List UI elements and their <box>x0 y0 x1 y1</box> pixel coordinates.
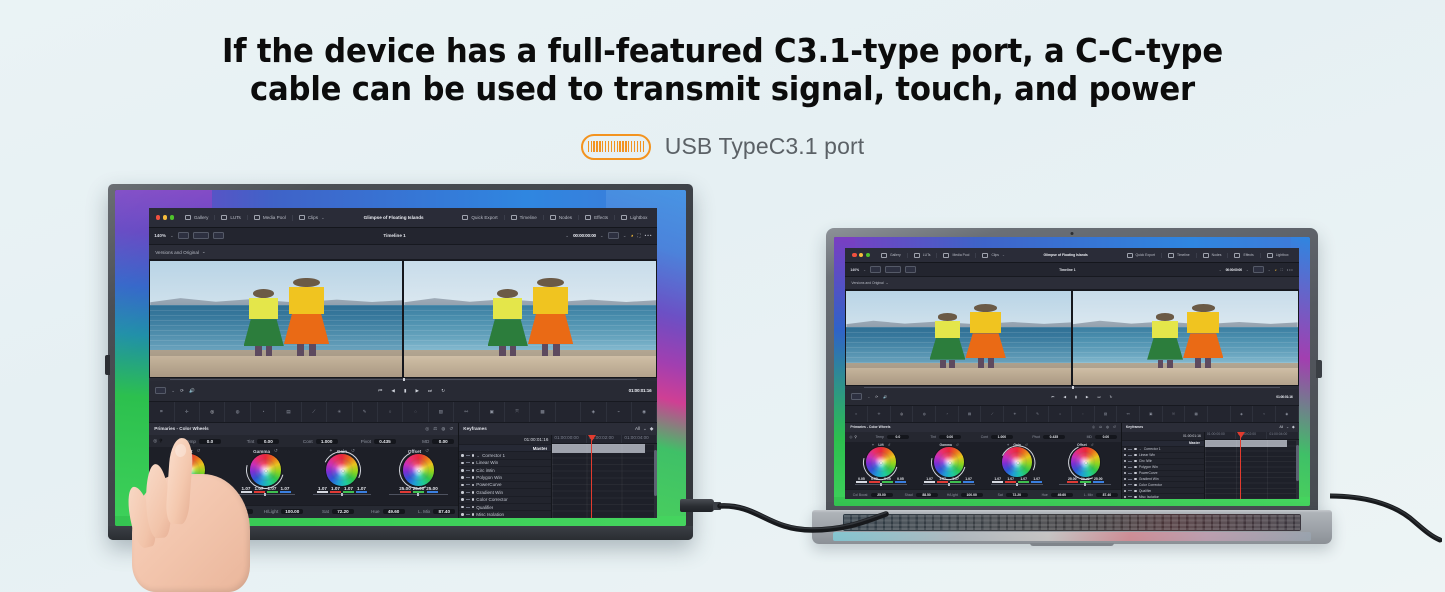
zoom-level[interactable]: 140% <box>850 268 859 272</box>
track-name: Gradient Win <box>476 490 503 495</box>
color-wheel-offset: Offset↺ 25.00 25.00 25.00 <box>1052 443 1119 489</box>
menu-item-lightbox[interactable]: Lightbox <box>614 215 653 220</box>
param-value: 0.00 <box>1095 435 1117 439</box>
tool-key-icon[interactable]: ▣ <box>480 402 505 422</box>
gain-b: 1.07 <box>357 486 366 491</box>
param-label: MD <box>422 439 429 444</box>
track-name: Linear Win <box>1139 453 1155 457</box>
menu-label: Gallery <box>194 215 209 220</box>
tool-scopes-icon[interactable]: ◈ <box>581 402 606 422</box>
subject-girl-left <box>488 289 528 356</box>
menu-item-media-pool[interactable]: Media Pool <box>936 253 975 258</box>
menu-item-media-pool[interactable]: Media Pool <box>247 215 292 220</box>
viewer-scrubber[interactable] <box>149 378 657 381</box>
track-name: Circ iWin <box>476 468 494 473</box>
color-palette-icon[interactable]: ◕ <box>631 233 634 238</box>
jump-end-button[interactable]: ⏭ <box>428 388 432 393</box>
keyframe-row-misc-isolation[interactable]: Misc Isolation <box>459 510 551 517</box>
param-label: L. Mix <box>1084 493 1093 497</box>
tool-magic-mask-icon[interactable]: ▨ <box>429 402 454 422</box>
param-hue[interactable]: Hue49.60 <box>1029 493 1073 497</box>
menu-label: Clips <box>308 215 318 220</box>
chevron-down-icon[interactable]: ⌄ <box>867 395 870 399</box>
menu-item-lightbox[interactable]: Lightbox <box>1260 253 1295 258</box>
menubar-left-group: Gallery LUTs Media Pool Clips⌄ <box>179 215 331 221</box>
keyframes-timeline[interactable]: 01:00:00:00 01:00:02:00 01:00:04:00 <box>552 435 657 518</box>
param-value: 72.20 <box>1006 493 1028 497</box>
window-traffic-lights[interactable] <box>153 215 179 219</box>
gamma-b: 1.07 <box>281 486 290 491</box>
color-wheel-gain: ✦Gain↺ 1.07 1.07 1.07 1.07 <box>984 443 1051 489</box>
menu-item-effects[interactable]: Effects <box>578 215 614 220</box>
gamma-master-slider[interactable] <box>923 483 975 486</box>
menu-label: Nodes <box>1212 253 1222 257</box>
color-wheel-gain: ✦Gain↺ 1.07 1.07 1.07 1.07 <box>304 448 380 505</box>
tool-qualifier-icon[interactable]: ✎ <box>353 402 378 422</box>
menu-item-effects[interactable]: Effects <box>1227 253 1259 258</box>
tool-scopes-icon[interactable]: ◈ <box>1231 406 1254 422</box>
laptop-keyboard[interactable] <box>843 514 1301 531</box>
param-shadow[interactable]: Shad88.50 <box>894 493 938 497</box>
jump-start-button[interactable]: ⏮ <box>378 388 382 393</box>
loop-playback-button[interactable]: ↻ <box>441 388 445 394</box>
tool-power-window-icon[interactable]: ○ <box>1049 406 1072 422</box>
keyframes-timecode: 01:00:01:16 <box>459 435 551 444</box>
gain-b: 1.07 <box>1033 477 1040 481</box>
keyframe-row-corrector-1[interactable]: ⌄Corrector 1 <box>459 451 551 458</box>
track-name: Corrector 1 <box>482 453 505 458</box>
history-icon[interactable]: ↺ <box>1113 425 1116 429</box>
tool-color-wheels-icon[interactable]: ◎ <box>200 402 225 422</box>
eyedropper-icon[interactable]: ⚲ <box>854 435 856 439</box>
playhead-timecode: 01:00:01:16 <box>629 388 652 393</box>
nodes-icon <box>550 215 556 220</box>
chevron-down-icon[interactable]: ⌄ <box>202 249 206 255</box>
gamma-wheel[interactable] <box>934 447 964 477</box>
tool-stabilizer-icon[interactable]: ▩ <box>1185 406 1208 422</box>
view-split-button[interactable] <box>193 232 209 239</box>
menu-label: Clips <box>991 253 999 257</box>
auto-balance-icon[interactable]: ⚖ <box>1099 425 1102 429</box>
viewer-timecode: 00:00:00:00 <box>1226 268 1242 272</box>
gallery-icon <box>881 253 887 258</box>
tool-motion-effects-icon[interactable]: ✳ <box>1004 406 1027 422</box>
subject-girl-right <box>965 304 1005 368</box>
playhead[interactable] <box>1240 432 1241 499</box>
gain-wheel[interactable] <box>1002 447 1032 477</box>
auto-balance-icon[interactable]: ⚖ <box>433 426 437 432</box>
param-label: Cont <box>303 439 313 444</box>
menu-item-luts[interactable]: LUTs <box>907 253 937 258</box>
param-value: 0.435 <box>374 439 396 444</box>
image-wipe-button[interactable] <box>1253 266 1264 273</box>
tool-color-match-icon[interactable]: ✛ <box>175 402 200 422</box>
image-wipe-button[interactable] <box>608 232 619 239</box>
param-highlight[interactable]: H/Light100.00 <box>939 493 983 497</box>
color-wheel-offset: Offset↺ 25.00 25.00 25.00 <box>381 448 457 505</box>
laptop-usb-c-port <box>1316 360 1322 378</box>
viewer-original[interactable] <box>150 261 402 376</box>
viewer-scrubber[interactable] <box>845 386 1298 389</box>
param-tint[interactable]: Tint0.00 <box>911 435 961 439</box>
loop-icon[interactable]: ⟳ <box>875 395 878 399</box>
tool-power-window-icon[interactable]: ○ <box>378 402 403 422</box>
more-options-icon[interactable]: ••• <box>1287 268 1294 272</box>
panel-header: Primaries - Color Wheels ◎ ⚖ ◍ ↺ <box>845 423 1120 433</box>
viewer-graded[interactable] <box>404 261 656 376</box>
tool-info-icon[interactable]: ⌁ <box>607 402 632 422</box>
tool-qualifier-icon[interactable]: ✎ <box>1027 406 1050 422</box>
viewer-original[interactable] <box>846 291 1071 385</box>
subject-girl-left <box>244 289 284 356</box>
param-hue[interactable]: Hue49.60 <box>355 509 405 514</box>
param-label: H/Light <box>264 509 279 514</box>
tool-rgb-mixer-icon[interactable]: ▤ <box>276 402 301 422</box>
tool-data-burn-icon[interactable] <box>556 402 581 422</box>
playback-controls: ⏮ ◀ ▮ ▶ ⏭ ↻ <box>887 395 1276 399</box>
offset-g: 25.00 <box>1094 477 1103 481</box>
color-palette-icon[interactable]: ◕ <box>1275 268 1277 272</box>
menu-label: Quick Export <box>471 215 497 220</box>
param-highlight[interactable]: H/Light100.00 <box>254 509 304 514</box>
menubar-left-group: Gallery LUTs Media Pool Clips⌄ <box>875 253 1011 258</box>
more-options-icon[interactable]: ••• <box>645 233 653 238</box>
chevron-down-icon[interactable]: ⌄ <box>1139 447 1142 451</box>
track-name: Circ iWin <box>1139 459 1153 463</box>
tool-curves-icon[interactable]: ⟋ <box>981 406 1004 422</box>
offset-wheel[interactable] <box>403 454 435 486</box>
track-name: Misc Isolation <box>476 512 504 517</box>
project-title: Glimpse of Floating Islands <box>331 215 456 220</box>
subject-girl-left <box>1147 313 1183 367</box>
param-temp[interactable]: Temp0.0 <box>859 435 909 439</box>
param-contrast[interactable]: Cont1.000 <box>963 435 1013 439</box>
chevron-down-icon: ⌄ <box>1002 253 1005 257</box>
gain-wheel[interactable] <box>326 454 358 486</box>
tool-key-icon[interactable]: ▣ <box>1140 406 1163 422</box>
param-value: 88.50 <box>916 493 938 497</box>
tool-tracker-icon[interactable]: ◌ <box>403 402 428 422</box>
loop-playback-button[interactable]: ↻ <box>1110 395 1113 399</box>
transport-right-controls: 01:00:01:16 <box>629 388 652 393</box>
keyframe-row-qualifier[interactable]: Qualifier <box>459 503 551 510</box>
nodes-icon <box>1203 253 1209 258</box>
gamma-b: 1.07 <box>965 477 972 481</box>
reset-icon[interactable]: ◎ <box>425 426 429 432</box>
tool-blur-icon[interactable]: ⚯ <box>454 402 479 422</box>
chevron-down-icon: ⌄ <box>321 215 325 221</box>
hand-touching-screen <box>128 438 256 592</box>
keyframes-ruler: 01:00:00:00 01:00:02:00 01:00:04:00 <box>552 435 657 444</box>
keyframes-body: 01:00:01:16 Master ⌄Corrector 1 Linear W… <box>1122 432 1299 499</box>
chevron-down-icon[interactable]: ⌄ <box>1219 268 1222 272</box>
param-md[interactable]: MD0.00 <box>398 439 454 444</box>
tool-log-wheels-icon[interactable]: ◔ <box>251 402 276 422</box>
tool-tracker-icon[interactable]: ◌ <box>1072 406 1095 422</box>
playhead-timecode: 01:00:01:16 <box>1276 395 1292 399</box>
webcam-icon <box>1071 232 1074 235</box>
keyframe-row-polygon-win[interactable]: Polygon Win <box>459 473 551 480</box>
menu-item-nodes[interactable]: Nodes <box>543 215 578 220</box>
tool-info-icon[interactable]: ⌁ <box>1253 406 1276 422</box>
tool-color-wheels-icon[interactable]: ◎ <box>891 406 914 422</box>
menu-label: Lightbox <box>1276 253 1289 257</box>
gain-y: 1.07 <box>994 477 1001 481</box>
play-button[interactable]: ▶ <box>1086 395 1089 399</box>
param-label: H/Light <box>947 493 958 497</box>
dual-viewer <box>845 290 1298 386</box>
cable-wire <box>680 470 900 560</box>
lightbox-icon <box>1267 253 1273 258</box>
view-single-button[interactable] <box>870 266 881 273</box>
menubar-right-group: Quick Export Timeline Nodes Effects Ligh… <box>1121 253 1295 258</box>
keyframes-filter[interactable]: All <box>1279 425 1283 429</box>
chevron-down-icon[interactable]: ⌄ <box>1268 268 1271 272</box>
keyframe-row-circ-win[interactable]: Circ iWin <box>459 466 551 473</box>
gain-master-slider[interactable] <box>991 483 1043 486</box>
play-button[interactable]: ▶ <box>416 388 420 394</box>
timeline-icon <box>1168 253 1174 258</box>
offset-master-slider[interactable] <box>1059 483 1111 486</box>
param-saturation[interactable]: Sat72.20 <box>984 493 1028 497</box>
param-label: Hue <box>371 509 379 514</box>
version-selector-label: Versions and Original <box>851 281 883 285</box>
keyframes-timecode: 01:00:01:16 <box>1122 432 1204 439</box>
tool-blur-icon[interactable]: ⚯ <box>1117 406 1140 422</box>
chevron-down-icon[interactable]: ⌄ <box>600 233 604 239</box>
menu-label: Timeline <box>520 215 537 220</box>
subject-girl-right <box>528 278 573 357</box>
keyframe-grid <box>552 444 657 518</box>
track-name: PowerCurve <box>1139 471 1158 475</box>
keyframe-row-gradient-win[interactable]: Gradient Win <box>459 488 551 495</box>
keyframes-timeline[interactable]: 01:00:00:00 01:00:02:00 01:00:04:00 <box>1205 432 1299 499</box>
chevron-down-icon[interactable]: ⌄ <box>1246 268 1249 272</box>
history-icon[interactable]: ↺ <box>449 426 453 432</box>
keyframe-row-powercurve[interactable]: PowerCurve <box>459 481 551 488</box>
timeline-name[interactable]: Timeline 1 <box>920 268 1215 272</box>
wheel-mode-icon[interactable]: ◎ <box>849 435 852 439</box>
stop-button[interactable]: ▮ <box>1075 395 1077 399</box>
view-compare-button[interactable] <box>905 266 916 273</box>
keyframe-add-icon[interactable]: ◆ <box>1292 425 1295 429</box>
menu-item-gallery[interactable]: Gallery <box>179 215 215 220</box>
menu-label: LUTs <box>230 215 240 220</box>
window-traffic-lights[interactable] <box>849 253 875 257</box>
menu-item-quick-export[interactable]: Quick Export <box>456 215 503 220</box>
color-tools-strip: ⌗ ✛ ◎ ◍ ◔ ▤ ⟋ ✳ ✎ ○ ◌ ▨ ⚯ ▣ ⤧ ▩ <box>149 401 657 423</box>
viewer-mode-icon[interactable] <box>155 387 166 394</box>
keyframe-row-misc-isolation[interactable]: Misc Isolation <box>1122 493 1204 499</box>
track-name: Corrector 1 <box>1144 447 1161 451</box>
keyframes-title: Keyframes <box>1126 425 1143 429</box>
tool-sizing-icon[interactable]: ⤧ <box>505 402 530 422</box>
usb-c-pins <box>588 141 644 152</box>
chevron-down-icon[interactable]: ⌄ <box>643 426 647 432</box>
tool-curves-icon[interactable]: ⟋ <box>302 402 327 422</box>
version-bar[interactable]: Versions and Original ⌄ <box>149 245 657 260</box>
track-name: Polygon Win <box>476 475 502 480</box>
param-pivot[interactable]: Pivot0.435 <box>1015 435 1065 439</box>
keyframes-header: Keyframes All ⌄ ◆ <box>459 423 657 435</box>
tool-camera-raw-icon[interactable]: ⌗ <box>845 406 868 422</box>
tool-magic-mask-icon[interactable]: ▨ <box>1095 406 1118 422</box>
tool-camera-raw-icon[interactable]: ⌗ <box>149 402 174 422</box>
menu-label: Nodes <box>559 215 572 220</box>
color-tools-strip: ⌗ ✛ ◎ ◍ ◔ ▤ ⟋ ✳ ✎ ○ ◌ ▨ ⚯ ▣ ⤧ ▩ <box>845 405 1298 423</box>
menu-item-clips[interactable]: Clips⌄ <box>975 253 1010 258</box>
chevron-down-icon[interactable]: ⌄ <box>863 268 866 272</box>
chevron-down-icon[interactable]: ⌄ <box>1286 425 1289 429</box>
track-name: Color Corrector <box>476 497 507 502</box>
ruler-tick: 01:00:04:00 <box>622 435 657 443</box>
tool-motion-effects-icon[interactable]: ✳ <box>327 402 352 422</box>
param-label: L. Mix <box>418 509 430 514</box>
view-split-button[interactable] <box>885 266 901 273</box>
jump-start-button[interactable]: ⏮ <box>1051 395 1054 399</box>
track-name: Misc Isolation <box>1139 495 1160 499</box>
tool-log-wheels-icon[interactable]: ◔ <box>936 406 959 422</box>
viewer-mode-icon[interactable] <box>851 393 862 400</box>
track-name: Gradient Win <box>1139 477 1159 481</box>
media-pool-icon <box>254 215 260 220</box>
usb-c-cable-right <box>1330 490 1442 550</box>
picker-icon[interactable]: ◍ <box>441 426 445 432</box>
keyframe-add-icon[interactable]: ◆ <box>650 426 654 432</box>
menu-item-quick-export[interactable]: Quick Export <box>1121 253 1161 258</box>
chevron-down-icon[interactable]: ⌄ <box>171 388 175 394</box>
menu-label: Lightbox <box>630 215 647 220</box>
param-contrast[interactable]: Cont1.000 <box>281 439 337 444</box>
tool-sizing-icon[interactable]: ⤧ <box>1163 406 1186 422</box>
param-pivot[interactable]: Pivot0.435 <box>340 439 396 444</box>
param-value: 0.435 <box>1043 435 1065 439</box>
menu-label: LUTs <box>923 253 931 257</box>
playhead[interactable] <box>591 435 592 518</box>
viewer-graded[interactable] <box>1073 291 1298 385</box>
track-name: Master <box>1189 441 1200 445</box>
export-icon <box>1127 253 1133 258</box>
param-value: 87.40 <box>1096 493 1118 497</box>
panel-title: Primaries - Color Wheels <box>850 425 890 429</box>
base-front-notch <box>1030 543 1113 546</box>
param-value: 0.0 <box>887 435 909 439</box>
param-label: Hue <box>1042 493 1048 497</box>
menu-item-gallery[interactable]: Gallery <box>875 253 907 258</box>
menu-item-clips[interactable]: Clips⌄ <box>292 215 331 221</box>
tool-rgb-mixer-icon[interactable]: ▤ <box>959 406 982 422</box>
usb-c-cable <box>680 470 900 560</box>
export-icon <box>462 215 468 220</box>
keyframes-scrollbar[interactable] <box>1296 440 1299 499</box>
keyframe-row-linear-win[interactable]: Linear Win <box>459 459 551 466</box>
offset-wheel[interactable] <box>1071 447 1101 477</box>
tool-settings-icon[interactable]: ◉ <box>632 402 657 422</box>
param-lum-mix[interactable]: L. Mix87.40 <box>1074 493 1118 497</box>
tool-stabilizer-icon[interactable]: ▩ <box>530 402 555 422</box>
view-single-button[interactable] <box>178 232 189 239</box>
primary-params-row: ◎ ⚲ Temp0.0 Tint0.00 Cont1.000 Pivot0.43… <box>845 432 1120 442</box>
param-label: Shad <box>905 493 913 497</box>
offset-y: 25.00 <box>1068 477 1077 481</box>
view-compare-button[interactable] <box>213 232 224 239</box>
base-reflection <box>833 532 1311 541</box>
transport-bar: ⌄ ⟳ 🔊 ⏮ ◀ ▮ ▶ ⏭ ↻ 01:00:01:16 <box>149 381 657 401</box>
panel-title: Primaries - Color Wheels <box>154 426 208 431</box>
fullscreen-icon[interactable]: ⛶ <box>637 233 640 238</box>
jump-end-button[interactable]: ⏭ <box>1097 395 1100 399</box>
subject-girl-right <box>1183 304 1223 368</box>
tool-data-burn-icon[interactable] <box>1208 406 1231 422</box>
transport-left-controls: ⌄ ⟳ 🔊 <box>155 387 194 394</box>
track-name: Linear Win <box>476 460 498 465</box>
keyframes-title: Keyframes <box>463 426 487 431</box>
chevron-down-icon[interactable]: ⌄ <box>886 281 889 285</box>
menu-item-nodes[interactable]: Nodes <box>1196 253 1228 258</box>
page-title: If the device has a full-featured C3.1-t… <box>51 32 1395 109</box>
param-value: 100.00 <box>281 509 303 514</box>
legend-label: USB TypeC3.1 port <box>665 133 864 160</box>
app-menubar: Gallery LUTs Media Pool Clips⌄ Glimpse o… <box>149 208 657 227</box>
param-lum-mix[interactable]: L. Mix87.40 <box>406 509 456 514</box>
keyframe-grid <box>1205 440 1299 499</box>
menu-label: Quick Export <box>1136 253 1155 257</box>
app-subbar: 140% ⌄ Timeline 1 ⌄ 00:00:00:00 ⌄ ⌄ ◕ ⛶ … <box>149 228 657 245</box>
timeline-name[interactable]: Timeline 1 <box>228 233 561 238</box>
zoom-level[interactable]: 140% <box>154 233 166 238</box>
track-name: PowerCurve <box>476 482 501 487</box>
step-back-button[interactable]: ◀ <box>1063 395 1066 399</box>
param-label: Temp <box>876 435 884 439</box>
dual-viewer <box>149 260 657 377</box>
step-back-button[interactable]: ◀ <box>391 388 395 394</box>
loop-icon[interactable]: ⟳ <box>180 388 184 394</box>
offset-master-slider[interactable] <box>389 493 448 496</box>
gain-master-slider[interactable] <box>313 493 372 496</box>
menu-item-timeline[interactable]: Timeline <box>1161 253 1196 258</box>
menu-item-luts[interactable]: LUTs <box>214 215 246 220</box>
chevron-down-icon[interactable]: ⌄ <box>476 453 480 459</box>
keyframes-filter[interactable]: All <box>635 426 640 431</box>
param-md[interactable]: MD0.00 <box>1067 435 1117 439</box>
param-value: 0.00 <box>939 435 961 439</box>
menu-label: Media Pool <box>263 215 286 220</box>
keyframe-row-master[interactable]: Master <box>459 444 551 451</box>
menu-item-timeline[interactable]: Timeline <box>504 215 543 220</box>
tool-color-match-icon[interactable]: ✛ <box>868 406 891 422</box>
keyframes-scrollbar[interactable] <box>654 444 657 518</box>
param-label: Pivot <box>361 439 371 444</box>
version-bar[interactable]: Versions and Original ⌄ <box>845 277 1298 290</box>
tool-settings-icon[interactable]: ◉ <box>1276 406 1299 422</box>
keyframe-row-color-corrector[interactable]: Color Corrector <box>459 496 551 503</box>
tool-primaries-bars-icon[interactable]: ◍ <box>225 402 250 422</box>
tool-primaries-bars-icon[interactable]: ◍ <box>913 406 936 422</box>
stop-button[interactable]: ▮ <box>404 388 407 394</box>
param-saturation[interactable]: Sat72.20 <box>304 509 354 514</box>
param-label: Cont <box>981 435 988 439</box>
chevron-down-icon[interactable]: ⌄ <box>565 233 569 239</box>
monitor-usb-c-port <box>105 355 110 375</box>
chevron-down-icon[interactable]: ⌄ <box>623 233 627 239</box>
reset-icon[interactable]: ◎ <box>1092 425 1095 429</box>
picker-icon[interactable]: ◍ <box>1106 425 1109 429</box>
version-selector-label: Versions and Original <box>155 250 199 255</box>
fullscreen-icon[interactable]: ⛶ <box>1281 268 1283 272</box>
usb-c-port-icon <box>581 134 651 160</box>
page-title-line1: If the device has a full-featured C3.1-t… <box>222 31 1223 70</box>
chevron-down-icon[interactable]: ⌄ <box>170 233 174 239</box>
